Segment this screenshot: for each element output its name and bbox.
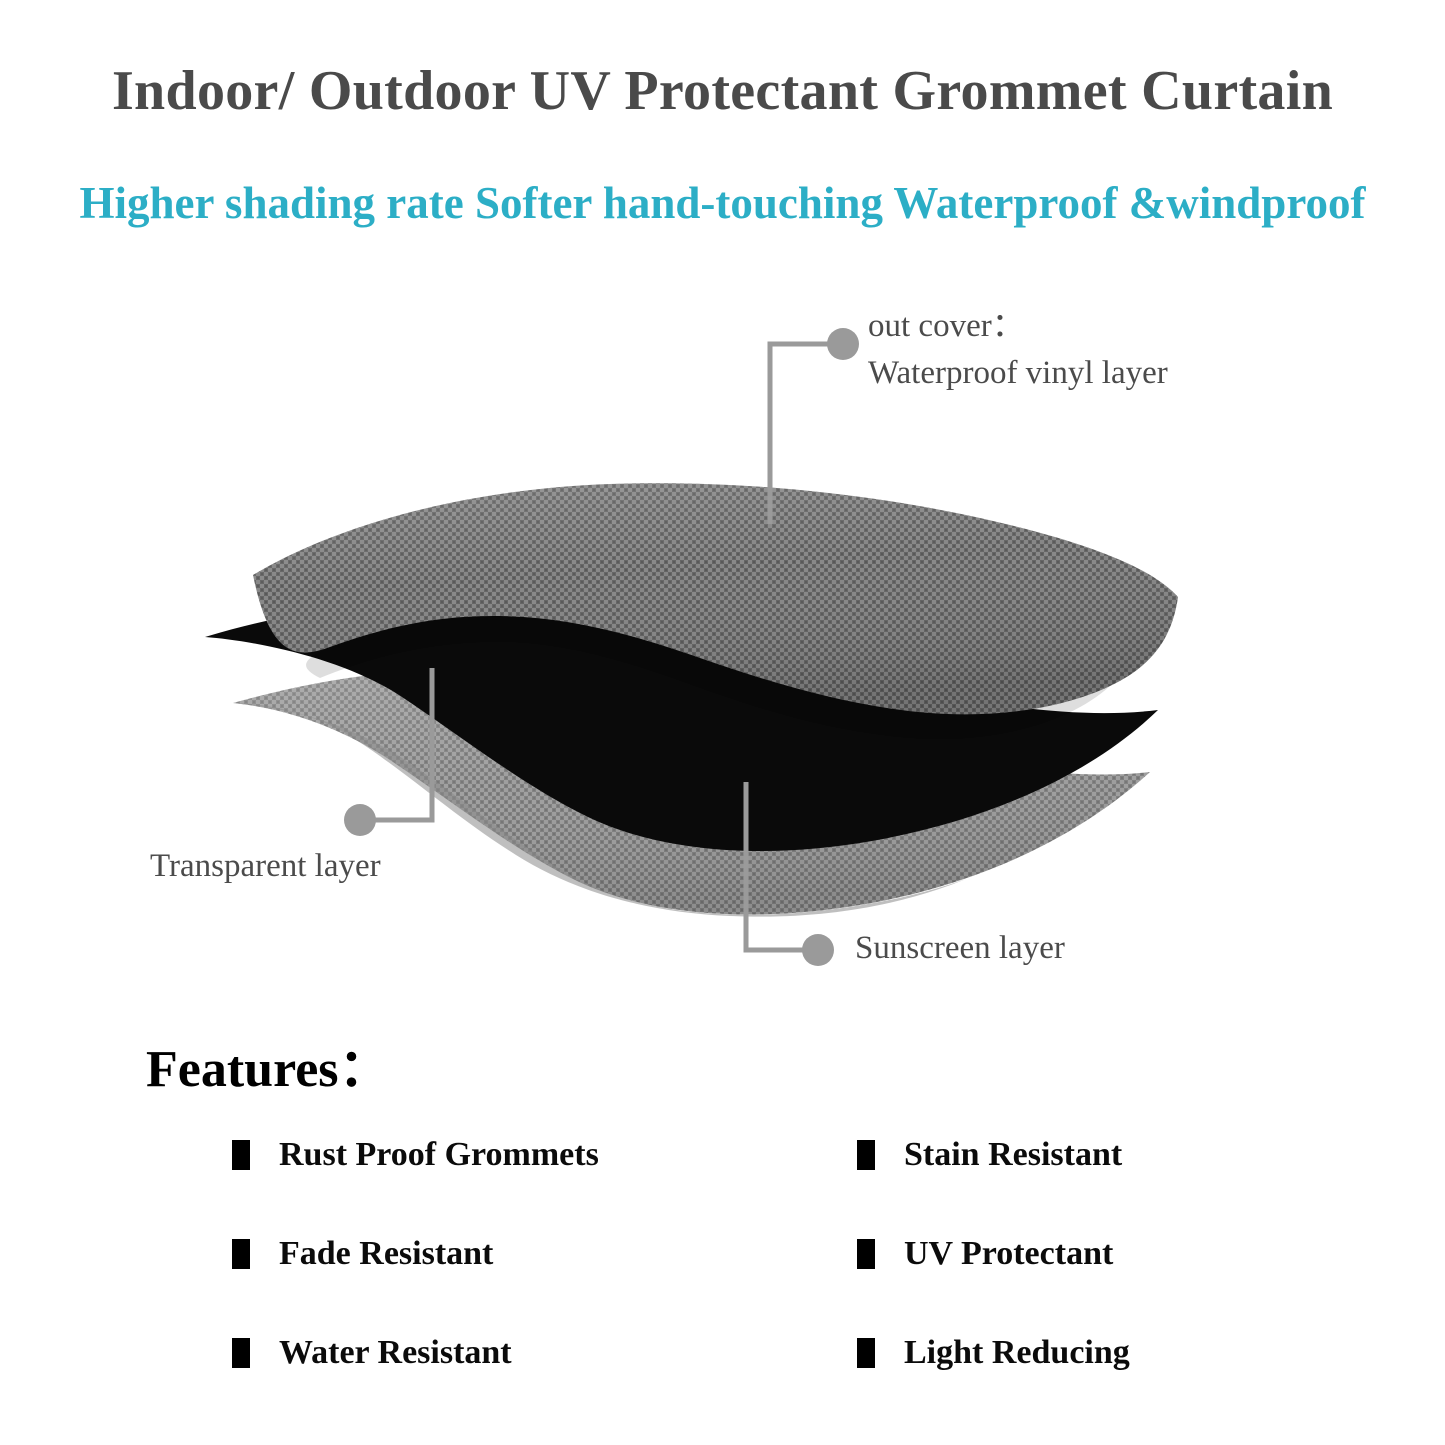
bullet-square-icon (232, 1338, 250, 1368)
bullet-square-icon (857, 1338, 875, 1368)
feature-label: Rust Proof Grommets (279, 1136, 599, 1174)
callout-out-cover-line2: Waterproof vinyl layer (868, 350, 1168, 397)
feature-item-water-resistant: Water Resistant (232, 1334, 857, 1372)
leader-dot-transparent (344, 804, 376, 836)
features-list: Rust Proof Grommets Stain Resistant Fade… (232, 1136, 1332, 1433)
feature-item-fade-resistant: Fade Resistant (232, 1235, 857, 1273)
feature-label: Light Reducing (904, 1334, 1130, 1372)
feature-label: Water Resistant (279, 1334, 512, 1372)
bullet-square-icon (232, 1140, 250, 1170)
product-infographic: Indoor/ Outdoor UV Protectant Grommet Cu… (0, 0, 1445, 1445)
bullet-square-icon (232, 1239, 250, 1269)
feature-item-uv-protectant: UV Protectant (857, 1235, 1317, 1273)
feature-row: Fade Resistant UV Protectant (232, 1235, 1332, 1334)
bullet-square-icon (857, 1140, 875, 1170)
feature-item-rust-proof-grommets: Rust Proof Grommets (232, 1136, 857, 1174)
feature-item-light-reducing: Light Reducing (857, 1334, 1317, 1372)
callout-label-transparent: Transparent layer (150, 843, 381, 890)
leader-dot-sunscreen (802, 934, 834, 966)
callout-label-out-cover: out cover： Waterproof vinyl layer (868, 303, 1168, 397)
bullet-square-icon (857, 1239, 875, 1269)
feature-label: Fade Resistant (279, 1235, 493, 1273)
feature-row: Water Resistant Light Reducing (232, 1334, 1332, 1433)
feature-item-stain-resistant: Stain Resistant (857, 1136, 1317, 1174)
leader-dot-out-cover (827, 328, 859, 360)
features-heading: Features： (146, 1026, 391, 1101)
feature-label: UV Protectant (904, 1235, 1113, 1273)
feature-label: Stain Resistant (904, 1136, 1122, 1174)
feature-row: Rust Proof Grommets Stain Resistant (232, 1136, 1332, 1235)
callout-label-sunscreen: Sunscreen layer (855, 925, 1065, 972)
callout-out-cover-line1: out cover： (868, 303, 1168, 350)
